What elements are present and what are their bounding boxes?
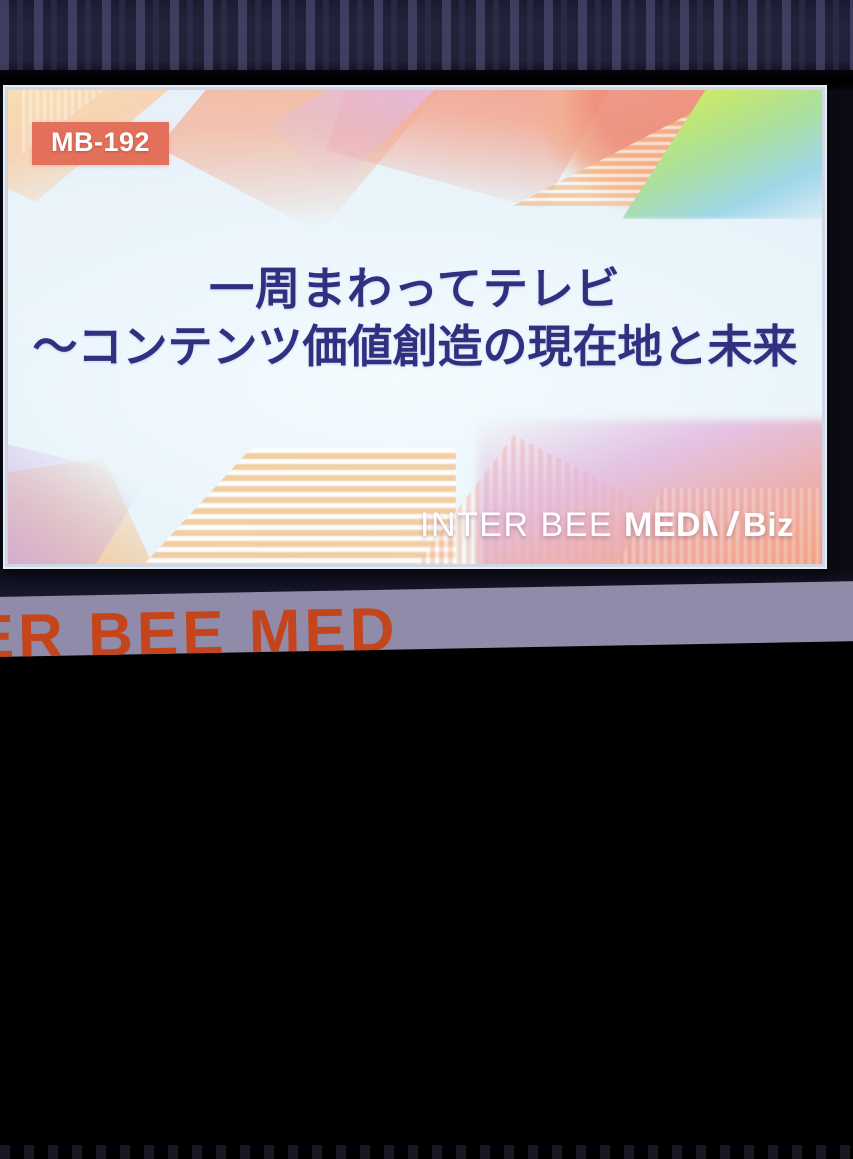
slide-title: 一周まわってテレビ 〜コンテンツ価値創造の現在地と未来	[8, 260, 822, 375]
logo-media-text: MEDI	[624, 508, 732, 542]
presentation-slide: MB-192 一周まわってテレビ 〜コンテンツ価値創造の現在地と未来 INTER…	[8, 90, 822, 564]
deco-top-right-stripes	[513, 90, 743, 206]
stage-curtain	[0, 0, 853, 78]
inter-bee-media-biz-logo: INTER BEE MEDI Biz	[420, 508, 794, 542]
deco-top-right-orange-arc	[528, 90, 822, 220]
deco-bottom-left-lavender	[8, 442, 148, 564]
slide-title-line-2: 〜コンテンツ価値創造の現在地と未来	[8, 318, 822, 376]
projection-screen: MB-192 一周まわってテレビ 〜コンテンツ価値創造の現在地と未来 INTER…	[5, 87, 825, 567]
logo-biz-text: Biz	[743, 508, 794, 541]
wall-ridge-texture	[0, 1145, 853, 1159]
deco-top-right-lime-cyan	[622, 90, 822, 219]
deco-bottom-center-stripes	[136, 448, 456, 564]
logo-inter-bee-text: INTER BEE	[420, 508, 613, 542]
deco-bottom-left-amber	[8, 458, 168, 564]
bottom-event-banner-text: ER BEE MED	[0, 600, 399, 657]
logo-triangle-a-glyph	[712, 511, 732, 536]
logo-media-letters: MEDI	[624, 508, 711, 542]
deco-bottom-vertical-stripes	[408, 435, 638, 564]
deco-top-center-coral-fan-1	[158, 90, 458, 233]
slide-title-line-1: 一周まわってテレビ	[8, 260, 822, 318]
session-code-badge: MB-192	[32, 122, 169, 165]
conference-hall-stage: ER BEE MED MB-192 一周まわってテレビ 〜コンテンツ価値創造の現…	[0, 0, 853, 640]
deco-top-center-coral-fan-2	[326, 90, 626, 210]
deco-top-center-lavender-fan	[270, 90, 445, 190]
